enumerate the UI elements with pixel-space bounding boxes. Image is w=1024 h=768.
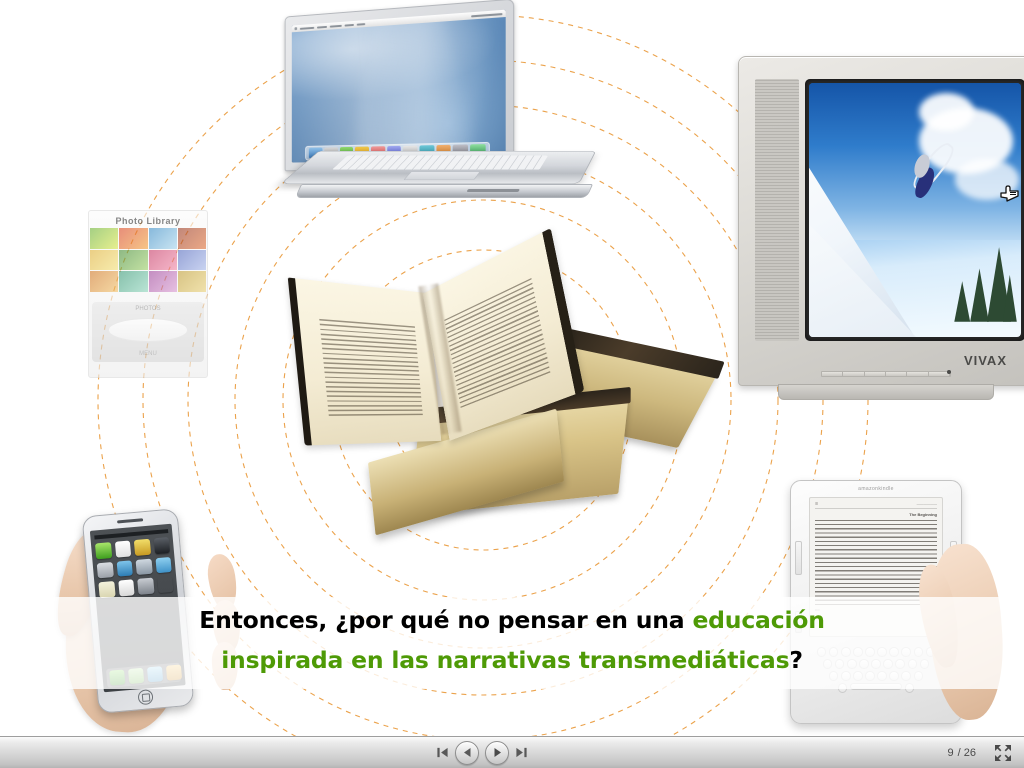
pointing-hand-cursor	[998, 182, 1022, 206]
photo-library-title: Photo Library	[88, 216, 208, 226]
book-text-lines	[444, 276, 550, 407]
app-icon-notes[interactable]	[98, 581, 115, 598]
app-icon-messages[interactable]	[95, 542, 112, 559]
caption-line1-black: Entonces, ¿por qué no pensar en una	[199, 606, 692, 634]
caption-line1-green: educación	[692, 606, 824, 634]
tv-button-row[interactable]	[821, 371, 951, 377]
current-page-number: 9	[948, 747, 954, 759]
previous-slide-button[interactable]	[455, 741, 479, 765]
menu-item	[345, 23, 354, 26]
app-icon-weather[interactable]	[155, 556, 172, 573]
snowboarder	[913, 149, 943, 210]
app-icon-calendar[interactable]	[114, 540, 131, 557]
caption-line-1: Entonces, ¿por qué no pensar en una educ…	[0, 600, 1024, 640]
caption-line2-green: inspirada en las narrativas transmediáti…	[221, 646, 789, 674]
pine-trees	[924, 215, 1017, 322]
open-book	[294, 260, 582, 440]
page-indicator: 9 / 26	[948, 747, 976, 759]
app-icon-clock[interactable]	[118, 579, 135, 596]
apple-menu-icon	[294, 27, 297, 30]
menu-label: PHOTOS	[92, 306, 204, 312]
app-slot-empty	[157, 576, 174, 593]
player-toolbar: 9 / 26	[0, 736, 1024, 768]
playback-controls	[0, 741, 1024, 765]
media-player-device: Photo Library PHOTOS MENU	[88, 210, 208, 378]
wheel-sub-label: MENU	[92, 351, 204, 357]
tv-cabinet: VIVAX	[738, 56, 1024, 386]
caption-line-2: inspirada en las narrativas transmediáti…	[0, 640, 1024, 680]
laptop-screen	[292, 10, 506, 163]
books-stack	[288, 258, 688, 526]
app-icon-maps[interactable]	[136, 558, 153, 575]
e-reader-header: ☰ ——————	[815, 502, 937, 509]
presentation-slide: Photo Library PHOTOS MENU	[0, 0, 1024, 768]
laptop-base	[280, 151, 596, 184]
app-icon-settings[interactable]	[137, 578, 154, 595]
last-slide-button[interactable]	[515, 746, 528, 759]
desktop-wallpaper	[292, 10, 506, 163]
laptop-lid	[285, 0, 515, 171]
photo-thumbnail-grid	[90, 228, 206, 292]
home-button[interactable]	[137, 689, 153, 705]
tv-screen	[809, 83, 1021, 337]
tv-speaker-grille	[755, 79, 799, 341]
television-device: VIVAX	[738, 56, 1024, 416]
menu-item	[330, 24, 342, 27]
fullscreen-button[interactable]	[994, 744, 1012, 762]
laptop-keyboard	[333, 156, 549, 170]
prev-page-button[interactable]	[795, 541, 802, 575]
app-icon-stocks[interactable]	[116, 560, 133, 577]
tree	[970, 268, 989, 321]
first-slide-button[interactable]	[436, 746, 449, 759]
click-wheel	[108, 318, 189, 342]
app-grid	[95, 537, 173, 598]
menu-bar-extras	[471, 13, 502, 17]
next-slide-button[interactable]	[485, 741, 509, 765]
total-page-count: / 26	[958, 747, 976, 759]
e-reader-page-title: The Beginning	[815, 512, 937, 517]
app-icon-camera[interactable]	[153, 537, 170, 554]
tv-power-led	[947, 370, 951, 374]
caption-line2-black: ?	[789, 646, 802, 674]
earpiece-speaker	[117, 518, 143, 523]
menu-item	[317, 25, 327, 28]
tv-brand-label: VIVAX	[964, 353, 1007, 368]
book-text-lines	[319, 317, 422, 415]
optical-drive-slot	[467, 189, 521, 192]
app-icon-youtube[interactable]	[97, 562, 114, 579]
menu-item	[357, 23, 365, 26]
tree	[954, 281, 970, 322]
tv-bezel	[805, 79, 1024, 341]
laptop-trackpad	[404, 171, 481, 180]
menu-item	[300, 26, 314, 29]
slide-caption: Entonces, ¿por qué no pensar en una educ…	[0, 600, 1024, 680]
tv-stand	[778, 384, 994, 400]
media-player-controls: PHOTOS MENU	[92, 302, 204, 362]
laptop-front-edge	[295, 184, 593, 198]
laptop-device	[272, 8, 588, 206]
app-icon-photos[interactable]	[134, 539, 151, 556]
kindle-brand-label: amazonkindle	[791, 486, 961, 492]
book-page-left	[288, 277, 442, 445]
